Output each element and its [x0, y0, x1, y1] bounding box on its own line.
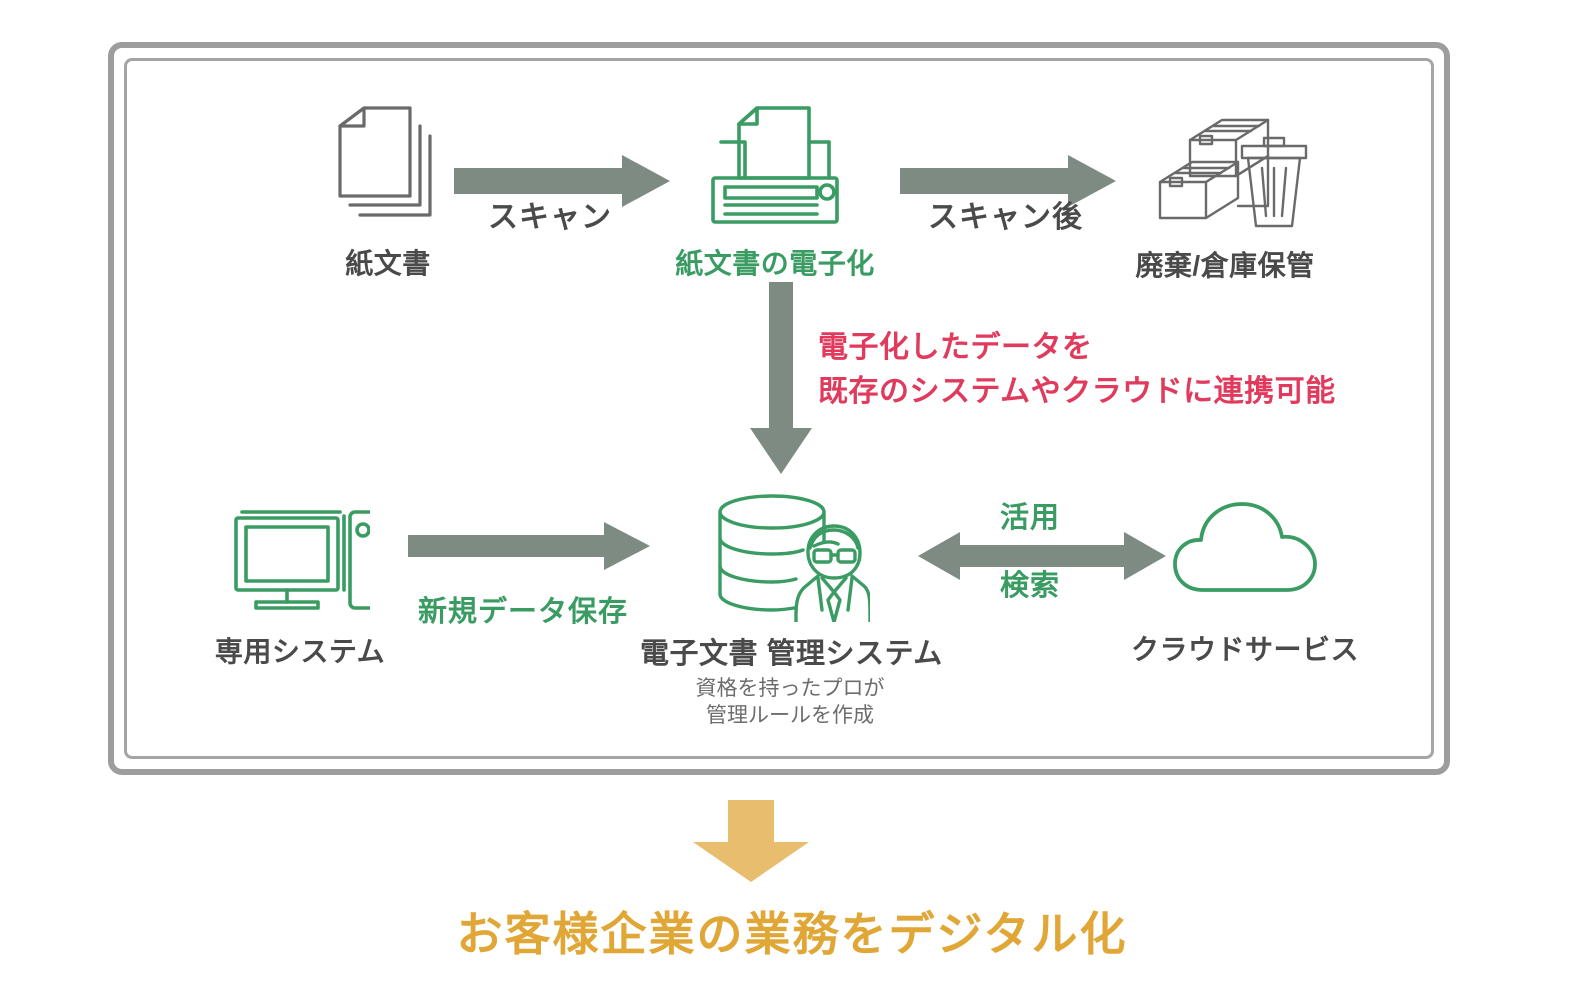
- node-document-management-system: 電子文書 管理システム 資格を持ったプロが 管理ルールを作成: [640, 490, 940, 730]
- arrow-right-shape: [408, 522, 650, 570]
- node-label-dedicated-system: 専用システム: [180, 630, 420, 670]
- arrow-label-new-data-save: 新規データ保存: [418, 588, 628, 630]
- arrow-digitization-to-dms: [750, 282, 812, 479]
- note-integration: 電子化したデータを 既存のシステムやクラウドに連携可能: [818, 326, 1336, 413]
- arrow-label-after-scan: スキャン後: [928, 192, 1083, 236]
- database-person-icon: [710, 490, 870, 622]
- node-sub-document-management-system: 資格を持ったプロが 管理ルールを作成: [640, 676, 940, 730]
- node-disposal-storage: 廃棄/倉庫保管: [1100, 96, 1350, 284]
- arrow-label-cloud-exchange-below: 検索: [1000, 562, 1060, 604]
- diagram-canvas: 紙文書 スキャン: [0, 0, 1584, 1008]
- node-label-cloud-service: クラウドサービス: [1110, 628, 1380, 668]
- arrow-label-cloud-exchange-above: 活用: [1000, 494, 1060, 536]
- boxes-trash-icon: [1130, 96, 1320, 236]
- node-label-digitization: 紙文書の電子化: [660, 242, 890, 282]
- node-sub-line-2: 管理ルールを作成: [640, 703, 940, 730]
- arrow-new-data-save: [408, 522, 650, 575]
- cloud-icon: [1169, 494, 1321, 606]
- desktop-computer-icon: [230, 498, 370, 616]
- node-dedicated-system: 専用システム: [180, 498, 420, 670]
- scanner-printer-icon: [705, 100, 845, 230]
- node-sub-line-1: 資格を持ったプロが: [640, 676, 940, 703]
- arrow-conclusion: [693, 800, 809, 887]
- note-integration-line-2: 既存のシステムやクラウドに連携可能: [818, 370, 1336, 414]
- note-integration-line-1: 電子化したデータを: [818, 326, 1336, 370]
- conclusion-caption: お客様企業の業務をデジタル化: [0, 898, 1584, 964]
- node-label-document-management-system: 電子文書 管理システム: [640, 630, 940, 672]
- node-cloud-service: クラウドサービス: [1110, 494, 1380, 668]
- paper-stack-icon: [326, 100, 450, 230]
- node-label-disposal-storage: 廃棄/倉庫保管: [1100, 244, 1350, 284]
- node-label-paper-documents: 紙文書: [268, 242, 508, 282]
- node-digitization: 紙文書の電子化: [660, 100, 890, 282]
- arrow-down-shape: [750, 282, 812, 474]
- arrow-down-shape: [693, 800, 809, 882]
- arrow-label-scan: スキャン: [488, 192, 612, 236]
